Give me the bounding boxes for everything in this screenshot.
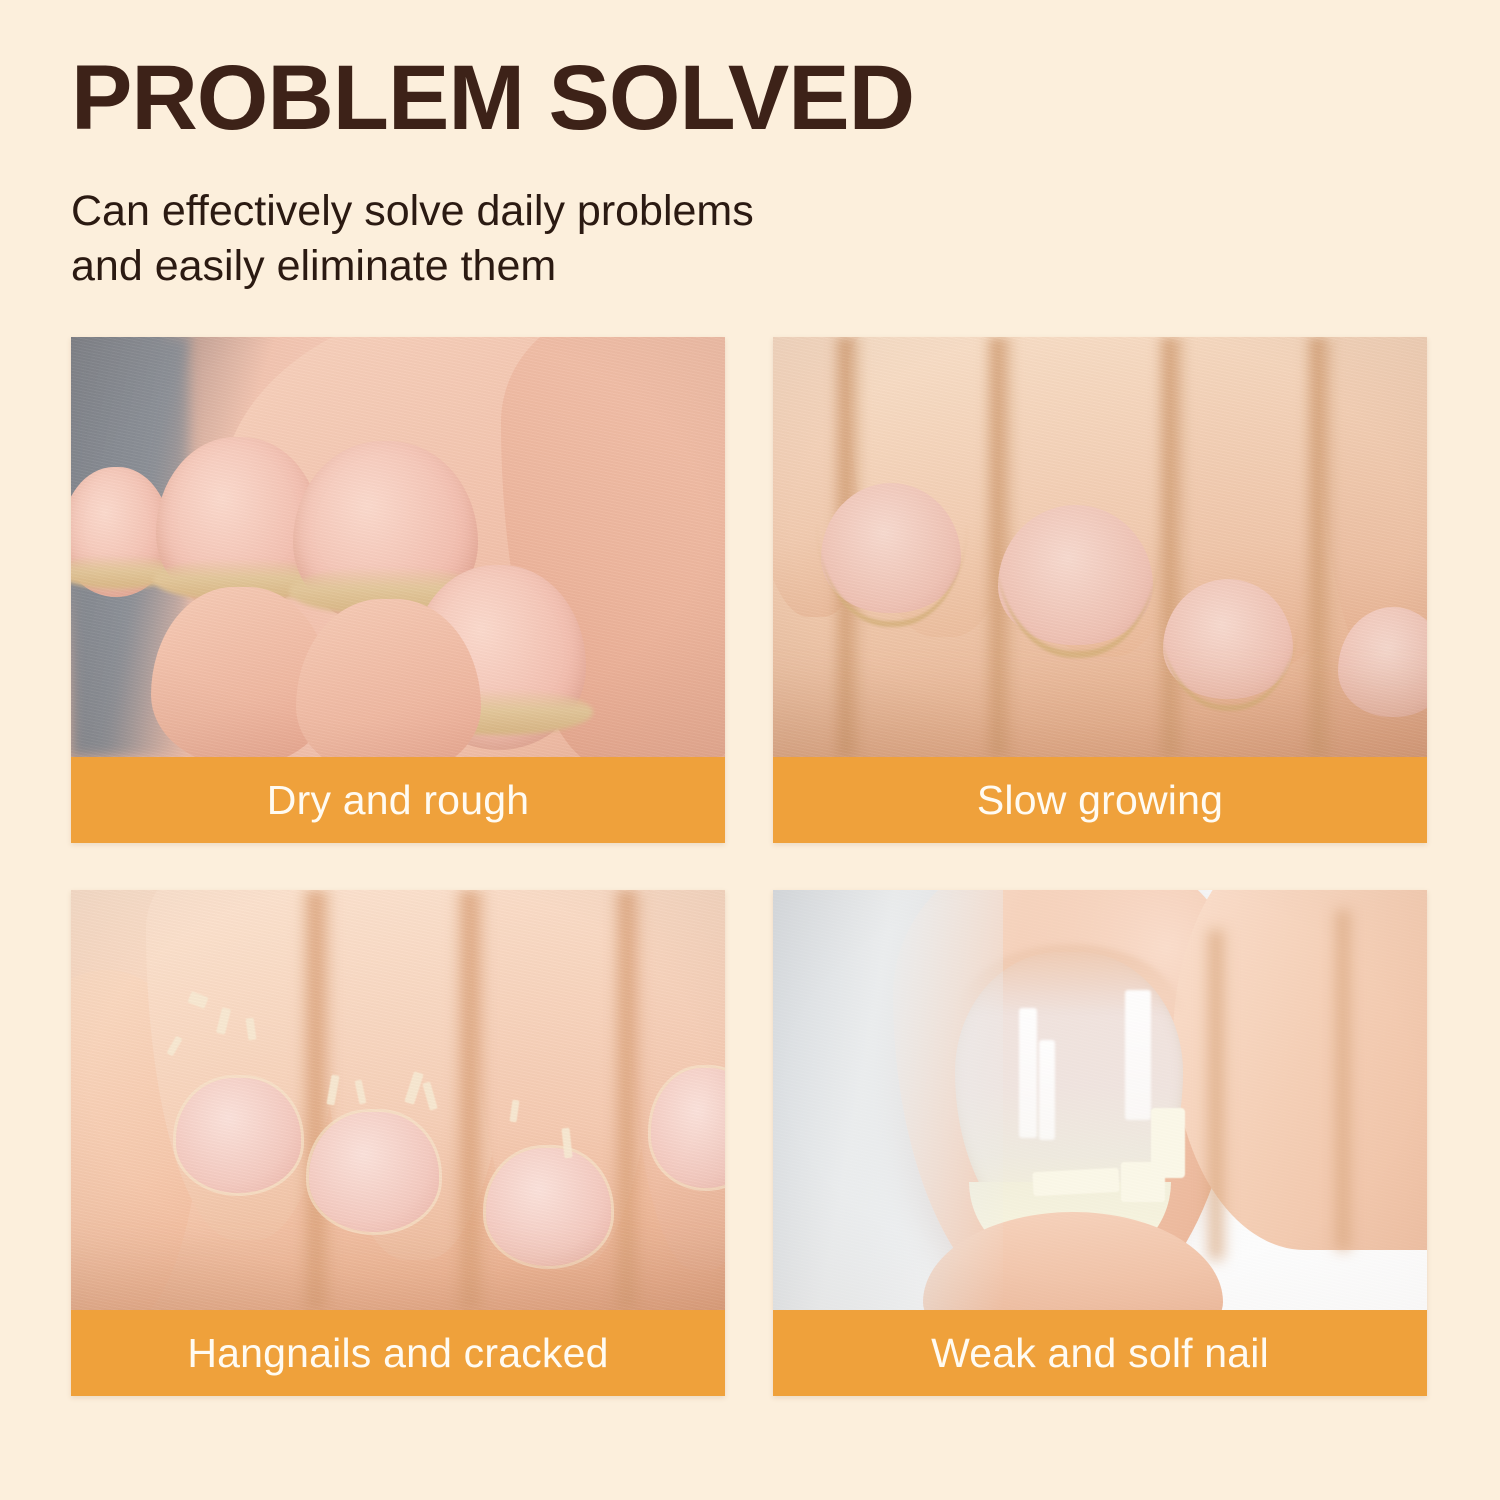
nail-2 xyxy=(309,1112,439,1232)
knuckle-crease-2 xyxy=(1333,910,1353,1250)
caption-label: Hangnails and cracked xyxy=(187,1333,608,1374)
nail-1 xyxy=(176,1078,301,1193)
subtitle-line-2: and easily eliminate them xyxy=(71,239,1031,294)
problem-card-slow-growing[interactable]: Slow growing xyxy=(773,337,1427,843)
peeling-patch-3 xyxy=(1151,1108,1185,1178)
header: PROBLEM SOLVED Can effectively solve dai… xyxy=(71,52,1431,294)
studio-backdrop-wash xyxy=(773,890,1003,1310)
caption-bar-hangnails-and-cracked: Hangnails and cracked xyxy=(71,1310,725,1396)
white-streak-2 xyxy=(1039,1040,1055,1140)
problem-cards-grid: Dry and rough xyxy=(71,337,1427,1396)
subtitle-line-1: Can effectively solve daily problems xyxy=(71,184,1031,239)
problem-card-dry-and-rough[interactable]: Dry and rough xyxy=(71,337,725,843)
page-subtitle: Can effectively solve daily problems and… xyxy=(71,184,1031,294)
problem-card-weak-and-solf-nail[interactable]: Weak and solf nail xyxy=(773,890,1427,1396)
knuckle-crease-1 xyxy=(1205,930,1227,1260)
peeling-patch-1 xyxy=(1032,1168,1119,1196)
caption-label: Weak and solf nail xyxy=(931,1333,1269,1374)
palm-shadow xyxy=(773,667,1427,757)
photo-hangnails-and-cracked xyxy=(71,890,725,1310)
photo-slow-growing xyxy=(773,337,1427,757)
problem-card-hangnails-and-cracked[interactable]: Hangnails and cracked xyxy=(71,890,725,1396)
caption-bar-dry-and-rough: Dry and rough xyxy=(71,757,725,843)
photo-dry-and-rough xyxy=(71,337,725,757)
white-streak-3 xyxy=(1125,990,1151,1120)
photo-weak-and-solf-nail xyxy=(773,890,1427,1310)
caption-bar-slow-growing: Slow growing xyxy=(773,757,1427,843)
caption-label: Slow growing xyxy=(977,780,1223,821)
caption-label: Dry and rough xyxy=(267,780,529,821)
white-streak-1 xyxy=(1019,1008,1037,1138)
palm-shadow xyxy=(71,1238,725,1310)
caption-bar-weak-and-solf-nail: Weak and solf nail xyxy=(773,1310,1427,1396)
page-title: PROBLEM SOLVED xyxy=(71,52,1431,144)
